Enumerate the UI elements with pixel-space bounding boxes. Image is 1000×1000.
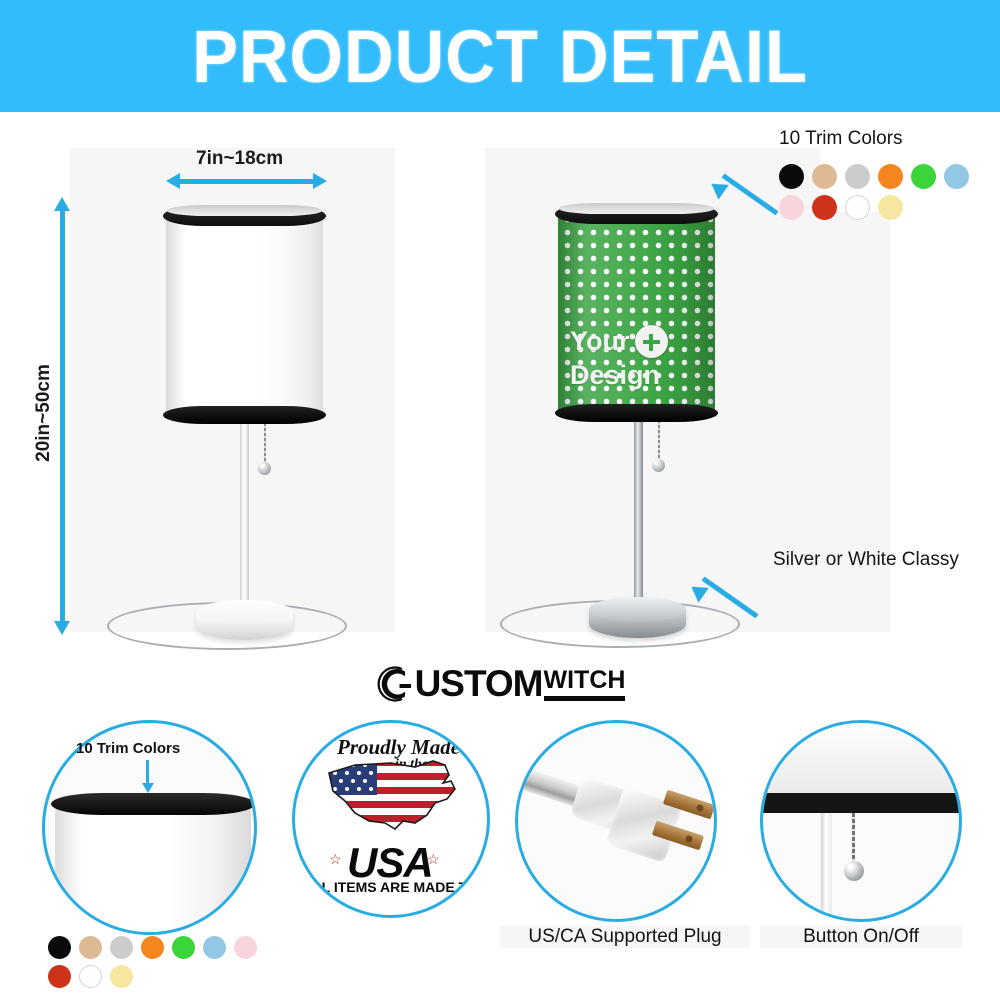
trim-colors-callout-label: 10 Trim Colors	[779, 128, 903, 150]
star-icon-right: ☆	[427, 851, 440, 868]
plug-photo	[515, 720, 717, 922]
trim-swatch-tan[interactable]	[812, 164, 837, 189]
trim-swatch-orange[interactable]	[141, 936, 164, 959]
logo-c-swirl-icon	[375, 663, 417, 705]
lamp-pole	[634, 414, 643, 619]
lamp-trim-top	[555, 204, 718, 224]
trim-swatch-red[interactable]	[812, 195, 837, 220]
trim-colors-callout-arrow	[706, 154, 786, 198]
lamp-base	[589, 597, 686, 638]
pull-chain-closeup[interactable]	[852, 813, 855, 865]
feature-panels: 10 Trim Colors Proudly Made in the	[0, 708, 1000, 1000]
width-dimension-label: 7in~18cm	[196, 148, 283, 170]
trim-colors-inner-arrow	[146, 760, 149, 784]
shade-closeup	[55, 803, 251, 935]
trim-swatch-orange[interactable]	[878, 164, 903, 189]
height-dimension-label-wrap: 20in~50cm	[33, 343, 55, 483]
header-banner: PRODUCT DETAIL	[0, 0, 1000, 112]
pull-chain-ball-closeup[interactable]	[844, 861, 864, 881]
height-dimension-label: 20in~50cm	[33, 364, 54, 462]
trim-swatch-gray[interactable]	[110, 936, 133, 959]
trim-colors-inner-label: 10 Trim Colors	[76, 740, 180, 757]
trim-swatch-yellow[interactable]	[878, 195, 903, 220]
bg-patch	[395, 112, 485, 702]
custom-design-artwork: Your Design	[570, 325, 710, 405]
height-dimension-arrow	[60, 210, 65, 622]
trim-closeup	[51, 793, 255, 815]
lamp-shade-surface	[166, 212, 323, 417]
pull-chain[interactable]	[658, 415, 660, 463]
product-stage: 7in~18cm 20in~50cm	[0, 112, 1000, 702]
lamp-pole	[240, 417, 249, 622]
trim-swatch-green[interactable]	[911, 164, 936, 189]
lamp-trim-top	[163, 206, 326, 226]
lamp-shade-rim	[167, 205, 322, 216]
made-in-usa-badge: Proudly Made in the	[292, 720, 490, 918]
pole-closeup	[821, 813, 832, 922]
brand-logo: USTOM WITCH	[0, 660, 1000, 708]
product-detail-page: PRODUCT DETAIL 7in~18cm 20in~50cm	[0, 0, 1000, 1000]
width-dimension-arrow	[179, 179, 314, 184]
trim-swatch-green[interactable]	[172, 936, 195, 959]
pull-chain[interactable]	[264, 418, 266, 466]
trim-swatch-black[interactable]	[48, 936, 71, 959]
lamp-base-top	[589, 597, 686, 622]
logo-word-custom: USTOM	[415, 663, 543, 705]
switch-caption: Button On/Off	[760, 926, 962, 948]
trim-bar-closeup	[760, 793, 962, 813]
trim-swatch-red[interactable]	[48, 965, 71, 988]
lamp-shade-rim	[559, 203, 714, 214]
trim-color-swatches-bottom	[48, 936, 273, 994]
badge-subtext: ALL ITEMS ARE MADE TO ORDER!	[303, 879, 490, 895]
shade-bottom-closeup	[763, 723, 962, 797]
lamp-base-top	[196, 600, 293, 624]
design-line-1: Your	[570, 328, 630, 355]
star-icon-left: ☆	[329, 851, 342, 868]
design-line-2: Design	[570, 360, 710, 391]
usa-map-flag-icon	[315, 751, 475, 841]
lamp-trim-bottom	[163, 406, 326, 424]
lamp-shade	[166, 212, 323, 417]
plug-caption: US/CA Supported Plug	[500, 926, 750, 948]
pull-chain-ball[interactable]	[652, 459, 665, 472]
trim-swatch-tan[interactable]	[79, 936, 102, 959]
logo-word-witch: WITCH	[544, 668, 626, 693]
trim-swatch-white[interactable]	[845, 195, 870, 220]
switch-photo	[760, 720, 962, 922]
base-finish-callout-arrow	[686, 557, 766, 601]
trim-swatch-black[interactable]	[779, 164, 804, 189]
trim-swatch-pink[interactable]	[779, 195, 804, 220]
pull-chain-ball[interactable]	[258, 462, 271, 475]
trim-swatch-pink[interactable]	[234, 936, 257, 959]
trim-color-swatches-top	[779, 164, 1000, 226]
trim-swatch-white[interactable]	[79, 965, 102, 988]
trim-swatch-light-blue[interactable]	[944, 164, 969, 189]
logo-underline	[544, 696, 626, 701]
base-finish-callout-label: Silver or White Classy	[773, 549, 959, 571]
lamp-shade: Your Design	[558, 210, 715, 415]
trim-swatch-yellow[interactable]	[110, 965, 133, 988]
logo-word-witch-wrap: WITCH	[544, 668, 626, 701]
lamp-trim-bottom	[555, 404, 718, 422]
page-title: PRODUCT DETAIL	[35, 0, 965, 112]
trim-swatch-light-blue[interactable]	[203, 936, 226, 959]
plus-circle-icon[interactable]	[635, 325, 668, 358]
lamp-base	[196, 600, 293, 640]
trim-swatch-gray[interactable]	[845, 164, 870, 189]
